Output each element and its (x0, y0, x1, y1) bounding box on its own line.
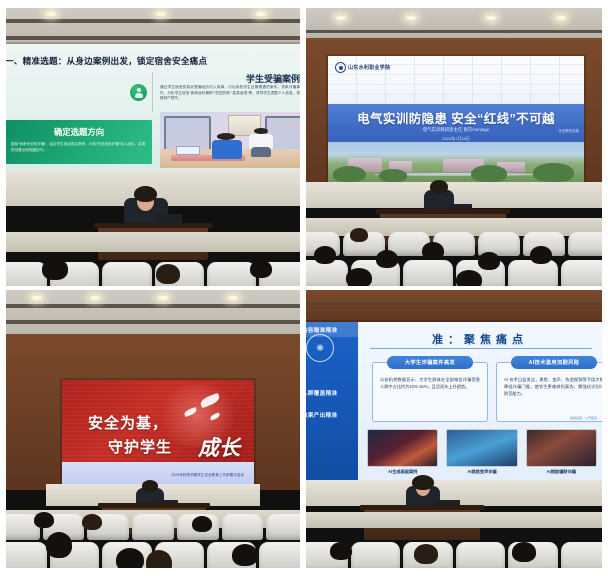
slide-screen-top-right: 山东水利职业学院 电气实训防隐患 安全“红线”不可越 电气实训教研室主任 谢京m… (328, 56, 584, 182)
thumbnail-caption: AI生成画面案例 (368, 469, 437, 475)
case-body-text: 通过学生宿舍的真实受骗经历切入故事，引出我校学生近期遭遇的案件、贷款诈骗事件，分… (160, 85, 300, 102)
slide-subtitle: 电气实训教研室主任 谢京montage (328, 127, 584, 133)
podium-top (360, 505, 484, 510)
sidebar-item-label: 人群覆盖精准 (306, 389, 337, 397)
sidebar-item-0[interactable]: 内容瞄准精准 (306, 322, 358, 337)
seal-icon: ❋ (306, 334, 334, 362)
audience-head (376, 250, 398, 268)
green-box-body: 围绕“宿舍安全防诈骗”，结合学生身边真实案例，对标“防范电信诈骗”深入剖析，讲清… (11, 142, 146, 154)
case-heading: 学生受骗案例 (246, 72, 300, 85)
sidebar-item-label: 效果产出精准 (306, 411, 337, 419)
institution-logo: 山东水利职业学院 (335, 62, 390, 73)
audience-head (116, 548, 144, 568)
thumbnail-row: AI生成画面案例 AI换脸变声诈骗 AI换脸骗财诈骗 (368, 430, 596, 475)
card-caption: 大学生诈骗案件高发 (387, 356, 473, 369)
green-callout-box: 确定选题方向 围绕“宿舍安全防诈骗”，结合学生身边真实案例，对标“防范电信诈骗”… (6, 120, 152, 164)
photo-panel-bottom-left: 安全为基， 守护学生 成长 主讲人：张老师 宿舍用电安全 防范电信诈骗 应急处置… (6, 290, 300, 568)
thumbnail-caption: AI换脸骗财诈骗 (527, 469, 596, 475)
audience-head (530, 246, 552, 264)
audience-head (512, 542, 536, 562)
audience-head (414, 544, 438, 564)
sidebar-item-1[interactable]: 人群覆盖精准 (306, 385, 358, 400)
sidebar-item-label: 内容瞄准精准 (306, 326, 337, 334)
speaker-hair (142, 480, 158, 492)
title-rule (370, 348, 592, 349)
audience-head (42, 258, 68, 280)
photo-panel-top-left: 一、精准选题：从身边案例出发，锁定宿舍安全痛点 学生受骗案例 通过学生宿舍的真实… (6, 8, 300, 286)
slide-footer-note: 2025年秋季学期学生安全教育工作部署与培训 (171, 473, 244, 478)
audience-seating (6, 240, 300, 286)
thumbnail-caption: AI换脸变声诈骗 (447, 469, 516, 475)
slide-screen-bottom-right: ❋ 内容瞄准精准 人群覆盖精准 效果产出精准 准：聚焦痛点 大学生诈骗案件高发 … (306, 322, 602, 480)
audience-head (330, 542, 352, 560)
slide-title: 准：聚焦痛点 (358, 331, 602, 347)
audience-head (456, 270, 482, 286)
speaker-hair (412, 475, 434, 490)
audience-head (156, 264, 180, 284)
source-note: 案例来源：公开报道 (570, 416, 597, 420)
audience-head (34, 512, 54, 528)
thumbnail-0: AI生成画面案例 (368, 430, 437, 475)
audience-head (250, 260, 272, 278)
institution-name: 山东水利职业学院 (348, 64, 390, 71)
thumbnail-image (447, 430, 516, 466)
audience-head (314, 246, 336, 264)
seal-icon (335, 62, 346, 73)
thumbnail-1: AI换脸变声诈骗 (447, 430, 516, 475)
content-card-0: 大学生诈骗案件高发 公安机关数据显示，大学生群体在全部电信诈骗受害人群中占比约为… (372, 362, 488, 422)
thumbnail-2: AI换脸骗财诈骗 (527, 430, 596, 475)
podium-top (376, 209, 510, 214)
slide-divider (152, 72, 153, 112)
card-body: AI 技术日益发达，换脸、变声、伪造视频等手段大幅降低诈骗门槛，使学生更难辨别真… (504, 377, 602, 398)
slide-screen-bottom-left: 安全为基， 守护学生 成长 主讲人：张老师 宿舍用电安全 防范电信诈骗 应急处置… (62, 380, 254, 484)
audience-seating (306, 520, 602, 568)
slide-title-line1: 安全为基， (88, 412, 168, 433)
photo-collage: 一、精准选题：从身边案例出发，锁定宿舍安全痛点 学生受骗案例 通过学生宿舍的真实… (0, 0, 608, 576)
slide-title: 一、精准选题：从身边案例出发，锁定宿舍安全痛点 (6, 55, 300, 67)
person-icon (130, 84, 147, 101)
photo-panel-bottom-right: ❋ 内容瞄准精准 人群覆盖精准 效果产出精准 准：聚焦痛点 大学生诈骗案件高发 … (306, 290, 602, 568)
doves-graphic (178, 396, 230, 430)
slide-sidebar: ❋ 内容瞄准精准 人群覆盖精准 效果产出精准 (306, 322, 358, 480)
green-box-title: 确定选题方向 (6, 126, 152, 138)
audience-head (346, 268, 372, 286)
speaker-hair (134, 186, 157, 202)
slide-title: 电气实训防隐患 安全“红线”不可越 (328, 108, 584, 127)
audience-head (478, 252, 500, 270)
thumbnail-image (368, 430, 437, 466)
audience-head (350, 228, 368, 242)
card-caption: AI技术滥用加剧风险 (511, 356, 597, 369)
corner-note: 安全教育讲座 (559, 128, 579, 133)
speaker-hair (430, 180, 448, 194)
audience-head (422, 242, 444, 260)
audience-head (82, 514, 102, 530)
photo-panel-top-right: 山东水利职业学院 电气实训防隐患 安全“红线”不可越 电气实训教研室主任 谢京m… (306, 8, 602, 286)
thumbnail-image (527, 430, 596, 466)
slide-title-line2: 守护学生 (108, 436, 172, 457)
campus-photo (328, 142, 584, 182)
content-card-1: AI技术滥用加剧风险 AI 技术日益发达，换脸、变声、伪造视频等手段大幅降低诈骗… (496, 362, 602, 422)
audience-seating (6, 506, 300, 568)
sidebar-item-2[interactable]: 效果产出精准 (306, 407, 358, 422)
dormitory-illustration (160, 112, 300, 168)
audience-head (192, 516, 212, 532)
podium-top (94, 223, 212, 228)
audience-seating (306, 224, 602, 286)
audience-head (232, 544, 258, 566)
card-body: 公安机关数据显示，大学生群体在全部电信诈骗受害人群中占比约为10%-15%，且呈… (380, 377, 480, 391)
slide-screen-top-left: 一、精准选题：从身边案例出发，锁定宿舍安全痛点 学生受骗案例 通过学生宿舍的真实… (6, 44, 300, 170)
audience-head (46, 532, 72, 558)
slide-accent-word: 成长 (198, 432, 240, 462)
